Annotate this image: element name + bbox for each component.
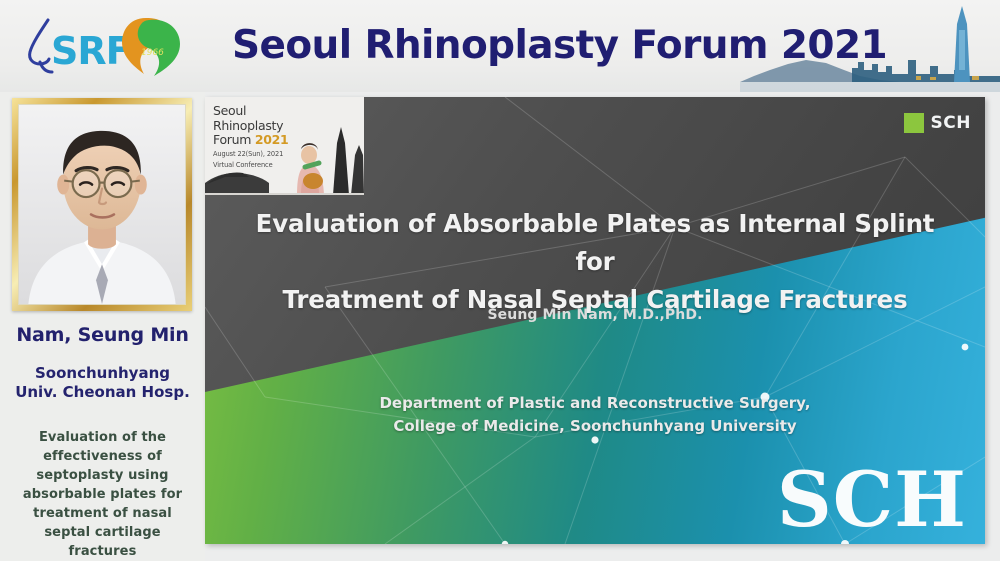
slide-title-line-1: Evaluation of Absorbable Plates as Inter… [245,205,945,281]
presentation-title-sidebar: Evaluation of the effectiveness of septo… [10,428,195,561]
srf-logo: SRF 1966 [18,10,198,82]
poster-year: 2021 [255,132,289,147]
event-header-banner: SRF 1966 Seoul Rhinoplasty Forum 2021 [0,0,1000,92]
sch-logo: SCH [904,113,971,133]
poster-line-2: Rhinoplasty [213,119,308,134]
speaker-photo-frame [12,98,192,311]
affiliation-line-2: Univ. Cheonan Hosp. [0,383,205,402]
department-line-2: College of Medicine, Soonchunhyang Unive… [245,415,945,438]
speaker-affiliation: Soonchunhyang Univ. Cheonan Hosp. [0,364,205,402]
sch-green-square-icon [904,113,924,133]
slide-title: Evaluation of Absorbable Plates as Inter… [245,205,945,319]
affiliation-line-1: Soonchunhyang [0,364,205,383]
poster-line-1: Seoul [213,104,308,119]
department-line-1: Department of Plastic and Reconstructive… [245,392,945,415]
speaker-name: Nam, Seung Min [0,324,205,346]
slide-department: Department of Plastic and Reconstructive… [245,392,945,438]
poster-mode: Virtual Conference [213,161,308,170]
slide-presenter-name: Seung Min Nam, M.D.,PhD. [245,307,945,323]
poster-text: Seoul Rhinoplasty Forum 2021 August 22(S… [213,104,308,170]
speaker-photo [18,104,186,305]
sch-watermark-text: SCH [777,462,967,538]
seoul-skyline-image [740,0,1000,92]
poster-date: August 22(Sun), 2021 [213,150,308,159]
presentation-slide[interactable]: Seoul Rhinoplasty Forum 2021 August 22(S… [205,97,985,544]
svg-text:SRF: SRF [51,29,131,73]
poster-forum-word: Forum [213,132,255,147]
conference-poster-inset: Seoul Rhinoplasty Forum 2021 August 22(S… [205,97,364,195]
svg-text:1966: 1966 [141,48,164,58]
speaker-sidebar: Nam, Seung Min Soonchunhyang Univ. Cheon… [0,92,205,561]
poster-line-3: Forum 2021 [213,133,308,148]
sch-logo-text: SCH [931,113,971,133]
